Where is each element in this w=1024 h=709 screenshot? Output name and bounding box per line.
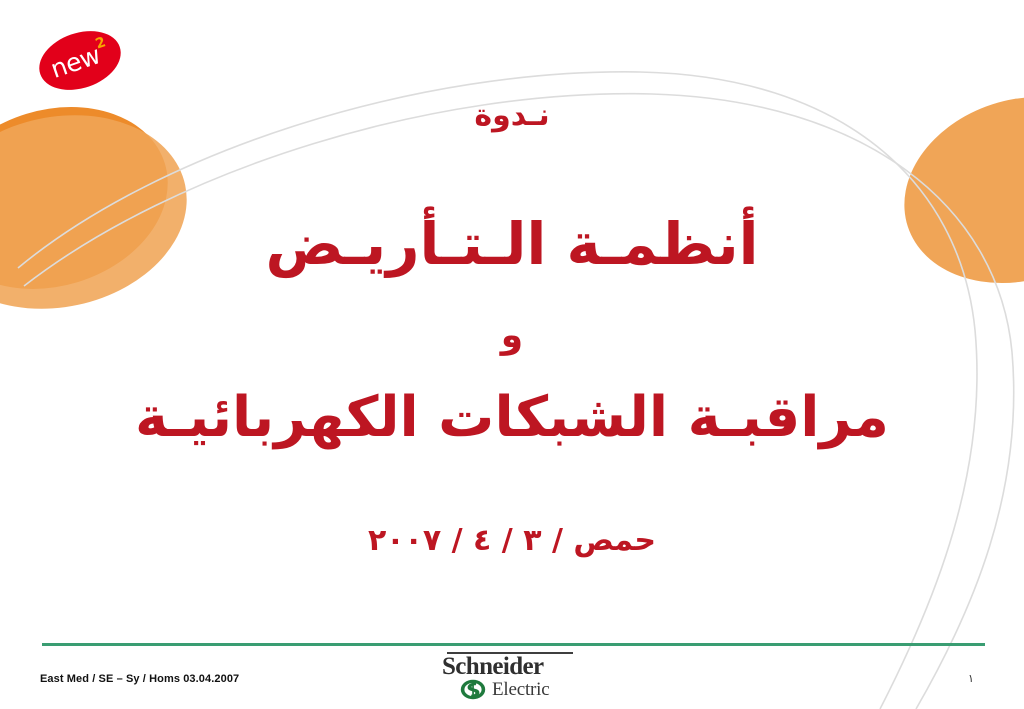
footer-divider: [42, 643, 985, 646]
slide-canvas: new 2 نـدوة أنظمـة الـتـأريـض و مراقبـة …: [0, 0, 1024, 709]
seminar-headline-secondary: مراقبـة الشبكات الكهربائيـة: [0, 385, 1024, 450]
new2-logo: new 2: [38, 33, 122, 88]
seminar-conjunction: و: [0, 315, 1024, 356]
schneider-logo-mark: [460, 679, 486, 700]
schneider-logo-line-2: Electric: [492, 680, 549, 699]
page-number: ١: [968, 672, 974, 685]
schneider-logo-line-1: Schneider: [442, 654, 544, 680]
footer-note: East Med / SE – Sy / Homs 03.04.2007: [40, 673, 239, 685]
seminar-headline-primary: أنظمـة الـتـأريـض: [0, 210, 1024, 278]
seminar-venue-date: حمص / ٣ / ٤ / ٢٠٠٧: [0, 523, 1024, 558]
schneider-electric-logo: Schneider Electric: [430, 652, 600, 702]
seminar-kicker: نـدوة: [0, 98, 1024, 133]
new2-logo-wordmark: new 2: [31, 21, 128, 100]
new2-logo-word: new: [48, 42, 104, 82]
